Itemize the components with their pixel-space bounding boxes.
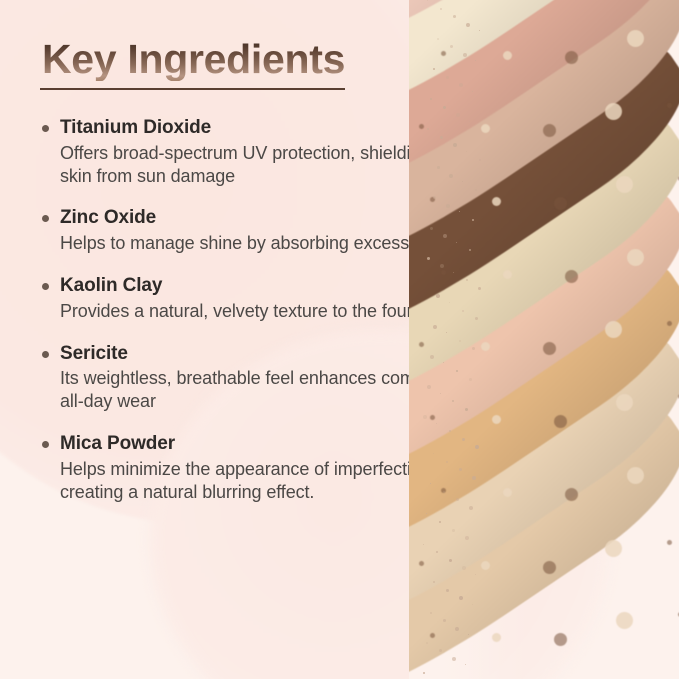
powder-speck <box>456 370 458 372</box>
powder-speck <box>427 385 431 389</box>
powder-crumb <box>543 561 556 574</box>
page-title-underline: Key Ingredients <box>40 38 345 90</box>
powder-speck <box>450 45 453 48</box>
powder-speck <box>437 38 439 40</box>
powder-speck <box>459 468 462 471</box>
powder-crumb <box>492 415 501 424</box>
bullet-dot-icon <box>42 215 49 222</box>
powder-crumb <box>441 270 446 275</box>
powder-speck <box>430 355 434 359</box>
powder-speck <box>469 249 471 251</box>
page-title: Key Ingredients <box>42 38 345 81</box>
powder-crumb <box>627 249 644 266</box>
powder-crumb <box>503 270 512 279</box>
powder-speck <box>443 234 447 238</box>
ingredient-item: SericiteIts weightless, breathable feel … <box>40 342 470 413</box>
powder-speck <box>427 257 430 260</box>
powder-speck <box>469 121 470 122</box>
powder-speck <box>462 310 464 312</box>
powder-crumb <box>492 197 501 206</box>
powder-speck <box>453 272 454 273</box>
powder-crumb <box>616 176 633 193</box>
powder-speck <box>472 219 474 221</box>
powder-speck <box>440 393 441 394</box>
ingredient-list: Titanium DioxideOffers broad-spectrum UV… <box>40 116 470 503</box>
powder-speck <box>472 476 476 480</box>
powder-crumb <box>565 488 578 501</box>
powder-speck <box>446 76 449 79</box>
powder-crumb <box>481 561 490 570</box>
powder-speck <box>437 166 440 169</box>
powder-crumb <box>554 197 567 210</box>
powder-speck <box>423 672 425 674</box>
powder-speck <box>433 453 434 454</box>
powder-speck <box>433 325 437 329</box>
powder-crumb <box>616 612 633 629</box>
powder-crumb <box>667 540 672 545</box>
powder-speck <box>466 151 467 152</box>
powder-crumb <box>492 633 501 642</box>
powder-speck <box>453 15 456 18</box>
powder-speck <box>440 8 442 10</box>
powder-speck <box>443 106 446 109</box>
powder-speck <box>427 0 428 1</box>
powder-speck <box>466 23 470 27</box>
powder-speck <box>459 340 461 342</box>
powder-speck <box>469 378 472 381</box>
powder-crumb <box>554 415 567 428</box>
powder-speck <box>463 53 467 57</box>
ingredient-item: Zinc OxideHelps to manage shine by absor… <box>40 206 470 255</box>
bullet-dot-icon <box>42 441 49 448</box>
powder-speck <box>430 227 433 230</box>
powder-speck <box>472 604 473 605</box>
powder-crumb <box>627 467 644 484</box>
powder-speck <box>443 619 446 622</box>
powder-swatch-image <box>409 0 679 679</box>
powder-speck <box>449 559 452 562</box>
powder-speck <box>430 612 432 614</box>
powder-speck <box>440 136 443 139</box>
ingredient-item: Mica PowderHelps minimize the appearance… <box>40 432 470 503</box>
powder-crumb <box>503 488 512 497</box>
bullet-dot-icon <box>42 283 49 290</box>
powder-speck <box>456 498 459 501</box>
powder-crumb <box>554 633 567 646</box>
powder-band-stack <box>409 0 679 679</box>
bullet-dot-icon <box>42 125 49 132</box>
key-ingredients-poster: Key Ingredients Titanium DioxideOffers b… <box>0 0 679 679</box>
powder-speck <box>456 242 457 243</box>
powder-crumb <box>419 561 424 566</box>
powder-speck <box>446 589 449 592</box>
powder-speck <box>440 264 444 268</box>
powder-speck <box>475 574 476 575</box>
powder-crumb <box>616 394 633 411</box>
powder-crumb <box>605 540 622 557</box>
powder-speck <box>452 529 455 532</box>
powder-speck <box>443 491 445 493</box>
content-column: Key Ingredients Titanium DioxideOffers b… <box>0 0 470 522</box>
powder-speck <box>479 159 481 161</box>
powder-speck <box>446 461 448 463</box>
powder-speck <box>469 506 473 510</box>
powder-crumb <box>565 270 578 283</box>
bullet-dot-icon <box>42 351 49 358</box>
ingredient-item: Titanium DioxideOffers broad-spectrum UV… <box>40 116 470 187</box>
ingredient-item: Kaolin ClayProvides a natural, velvety t… <box>40 274 470 323</box>
